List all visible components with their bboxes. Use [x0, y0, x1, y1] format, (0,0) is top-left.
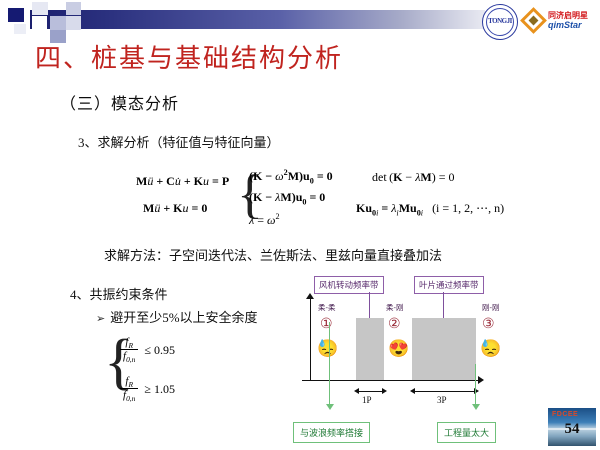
section-4-heading: 4、共振约束条件: [70, 284, 168, 303]
stiffness-label-1: 柔-柔: [318, 302, 336, 313]
brand-name-en: qimStar: [548, 20, 582, 30]
stiffness-label-3: 刚-刚: [482, 302, 500, 313]
university-seal-logo: TONGJI: [482, 4, 518, 40]
seal-label: TONGJI: [483, 17, 517, 25]
diamond-icon: [520, 7, 547, 34]
header-square-2: [32, 2, 48, 15]
slide-number-badge: FDCEE 54: [548, 408, 596, 446]
fraction-upper: fR f0,n: [120, 336, 138, 364]
qimstar-logo: 同济启明星 qimStar: [524, 8, 596, 36]
dimension-line-1p: [358, 391, 382, 392]
constraint-relation-upper: ≤ 0.95: [144, 343, 175, 358]
circled-number-2: ②: [388, 316, 401, 333]
emoji-happy-middle: 😍: [388, 340, 409, 357]
header-square-7: [66, 16, 81, 30]
dimension-arrow-3p-left: [410, 388, 415, 394]
slide-number: 54: [548, 421, 596, 438]
fraction-lower: fR f0,n: [120, 375, 138, 403]
bullet-label: 避开至少5%以上安全余度: [110, 310, 257, 325]
safety-margin-bullet: ➢避开至少5%以上安全余度: [96, 307, 258, 326]
frequency-constraint-block: { fR f0,n ≤ 0.95 fR f0,n ≥ 1.05: [104, 334, 234, 412]
equation-damped-motion: Mü + Cu̇ + Ku = P: [136, 174, 229, 189]
dimension-arrow-1p-left: [354, 388, 359, 394]
diagram-y-axis: [310, 298, 311, 380]
diagram-x-axis-arrow: [478, 376, 484, 384]
callout-rotor-frequency-band: 风机转动频率带: [314, 276, 384, 294]
section-3-heading: 3、求解分析（特征值与特征向量）: [78, 132, 280, 151]
fraction-lower-denominator: f0,n: [120, 388, 138, 401]
diagram-y-axis-arrow: [306, 293, 314, 299]
header-square-5: [66, 2, 81, 15]
green-leader-line-2: [475, 364, 476, 406]
equation-eigenpair: Ku0i = λiMu0i (i = 1, 2, ⋯, n): [356, 201, 504, 217]
emoji-sweating-left: 😓: [317, 340, 338, 357]
header-gradient-bar: [30, 10, 485, 29]
solution-methods-text: 求解方法：子空间迭代法、兰佐斯法、里兹向量直接叠加法: [104, 245, 442, 264]
constraint-row-upper: fR f0,n ≤ 0.95: [120, 336, 175, 364]
header-square-4: [50, 16, 66, 30]
slide-subtitle: （三）模态分析: [60, 90, 179, 114]
green-leader-arrow-1: [326, 404, 334, 410]
dimension-line-3p: [414, 391, 474, 392]
frequency-band-diagram: 风机转动频率带 叶片通过频率带 柔-柔 柔-刚 刚-刚 ① ② ③ 😓 😍 😓 …: [292, 276, 592, 421]
fraction-upper-numerator: fR: [122, 336, 136, 348]
eigen-index-range: (i = 1, 2, ⋯, n): [432, 201, 504, 215]
constraint-row-lower: fR f0,n ≥ 1.05: [120, 375, 175, 403]
circled-number-1: ①: [320, 316, 333, 333]
brace-equation-2: (K − λM)u0 = 0: [249, 190, 325, 206]
header-square-1: [8, 8, 24, 22]
slide-canvas: TONGJI 同济启明星 qimStar 四、桩基与基础结构分析 （三）模态分析…: [0, 0, 600, 450]
dimension-label-1p: 1P: [362, 395, 372, 405]
brace-equation-1: (K − ω2M)u0 = 0: [249, 168, 333, 185]
badge-caption: FDCEE: [552, 411, 578, 418]
conclusion-box-excessive-work: 工程量太大: [437, 422, 496, 443]
fraction-upper-denominator: f0,n: [120, 349, 138, 362]
equation-determinant: det (K − λM) = 0: [372, 170, 454, 185]
equation-undamped-motion: Mü + Ku = 0: [143, 201, 207, 216]
fraction-lower-numerator: fR: [122, 375, 136, 387]
bullet-arrow-icon: ➢: [96, 313, 105, 325]
dimension-arrow-1p-right: [382, 388, 387, 394]
dimension-label-3p: 3P: [437, 395, 447, 405]
slide-title: 四、桩基与基础结构分析: [35, 38, 343, 75]
constraint-relation-lower: ≥ 1.05: [144, 382, 175, 397]
equation-brace-group: { (K − ω2M)u0 = 0 (K − λM)u0 = 0 λ = ω2: [237, 166, 367, 232]
circled-number-3: ③: [482, 316, 495, 333]
frequency-band-3p: [412, 318, 476, 380]
emoji-sweating-right: 😓: [480, 340, 501, 357]
header-square-3: [32, 16, 47, 29]
green-leader-line-1: [329, 322, 330, 406]
frequency-band-1p: [356, 318, 384, 380]
stiffness-label-2: 柔-刚: [386, 302, 404, 313]
brace-equation-3: λ = ω2: [249, 212, 280, 228]
conclusion-box-wave-overlap: 与波浪频率搭接: [293, 422, 370, 443]
callout-blade-passing-band: 叶片通过频率带: [414, 276, 484, 294]
green-leader-arrow-2: [472, 404, 480, 410]
header-square-8: [14, 24, 26, 34]
